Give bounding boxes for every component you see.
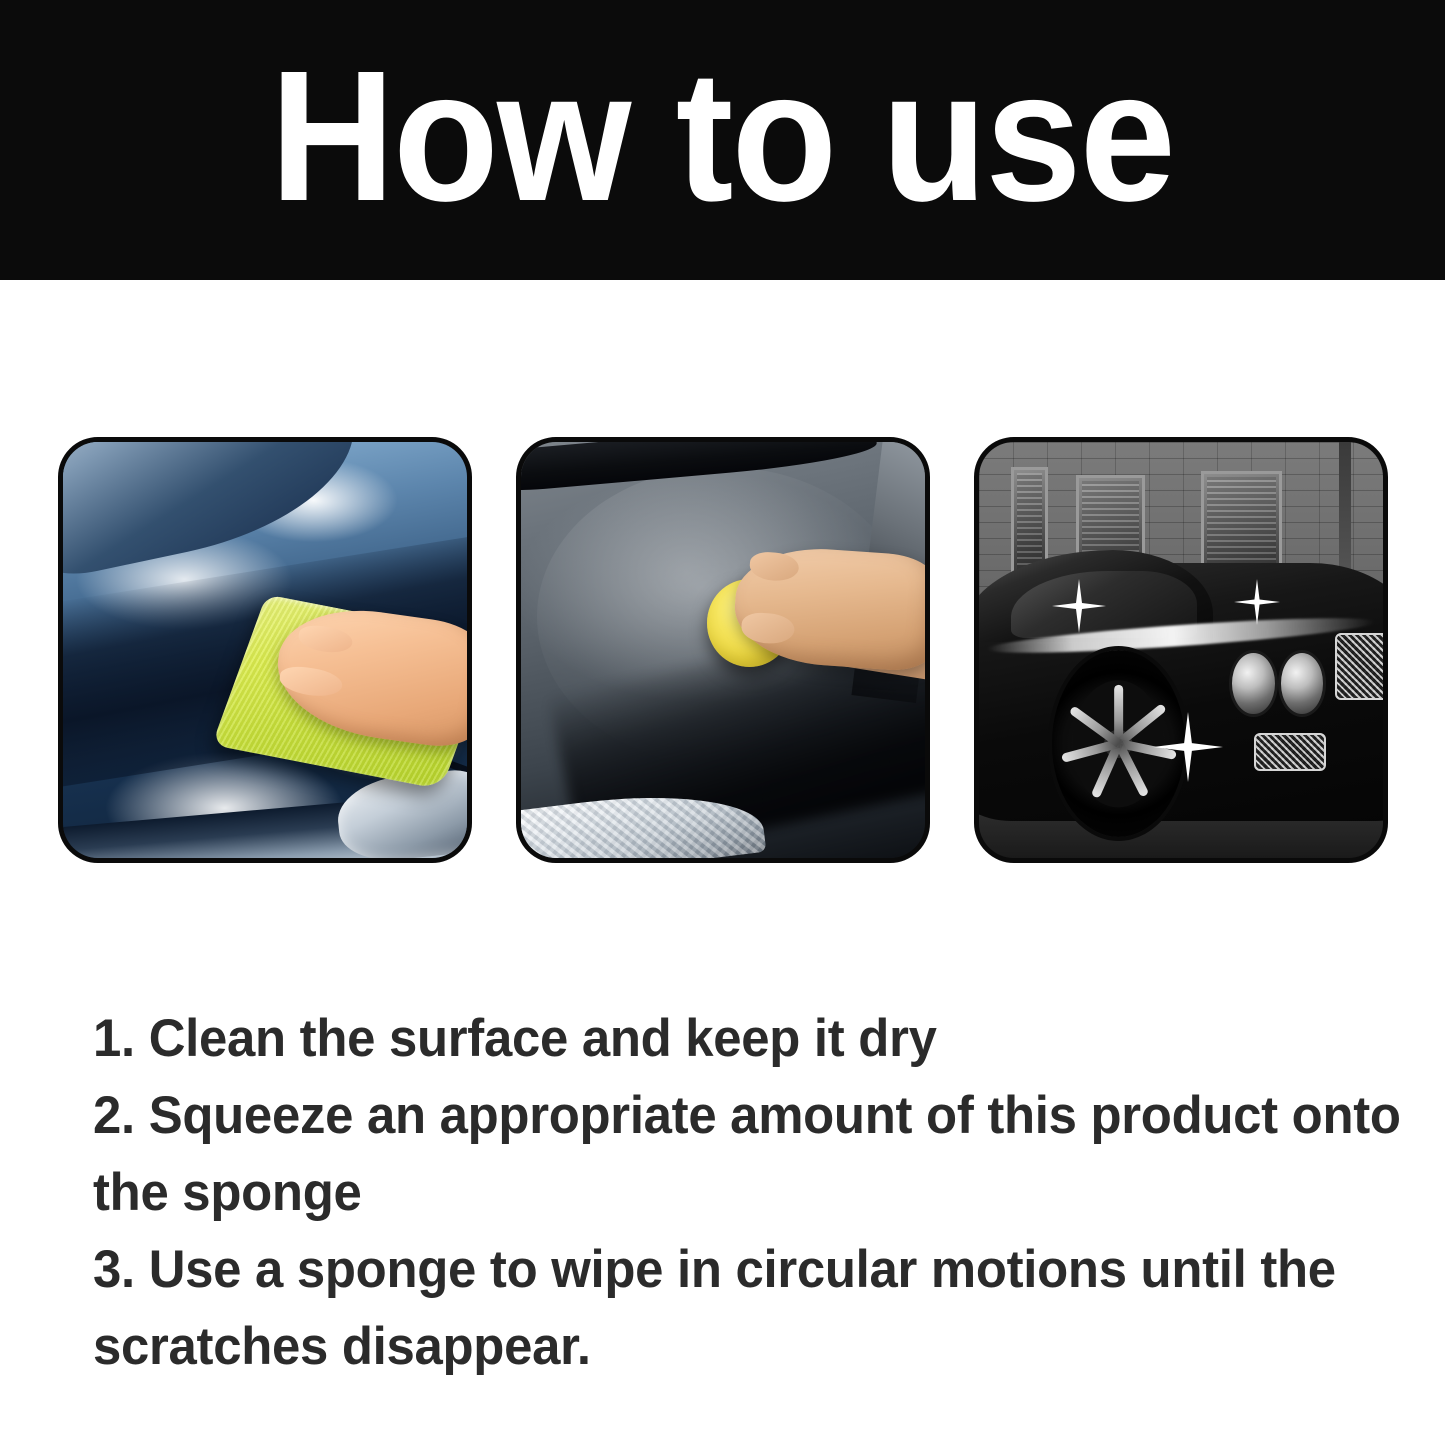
photo-apply-sponge[interactable] [516, 437, 930, 863]
instructions-list: 1. Clean the surface and keep it dry 2. … [93, 1000, 1333, 1385]
photo-clean-surface-content [63, 442, 467, 858]
photo-clean-surface[interactable] [58, 437, 472, 863]
car-wheel-rim [1073, 680, 1164, 807]
finger-index [749, 551, 799, 582]
photo-apply-sponge-content [521, 442, 925, 858]
street-scene [979, 442, 1383, 858]
instruction-line: 2. Squeeze an appropriate amount of this… [93, 1077, 1283, 1154]
instruction-line: 1. Clean the surface and keep it dry [93, 1000, 1283, 1077]
photo-shiny-result[interactable] [974, 437, 1388, 863]
page-title: How to use [271, 51, 1175, 222]
car-lower-grille [1254, 733, 1327, 770]
car-radiator-grille [1335, 633, 1383, 700]
car-headlamp-outer [1278, 650, 1326, 717]
instruction-line: scratches disappear. [93, 1308, 1283, 1385]
car-wheel [1052, 650, 1185, 837]
photo-shiny-result-content [979, 442, 1383, 858]
header-banner: How to use [0, 0, 1445, 280]
finger-index [297, 623, 355, 655]
instruction-line: the sponge [93, 1154, 1283, 1231]
instruction-line: 3. Use a sponge to wipe in circular moti… [93, 1231, 1283, 1308]
photo-strip [58, 437, 1388, 863]
car-headlamp-inner [1229, 650, 1277, 717]
